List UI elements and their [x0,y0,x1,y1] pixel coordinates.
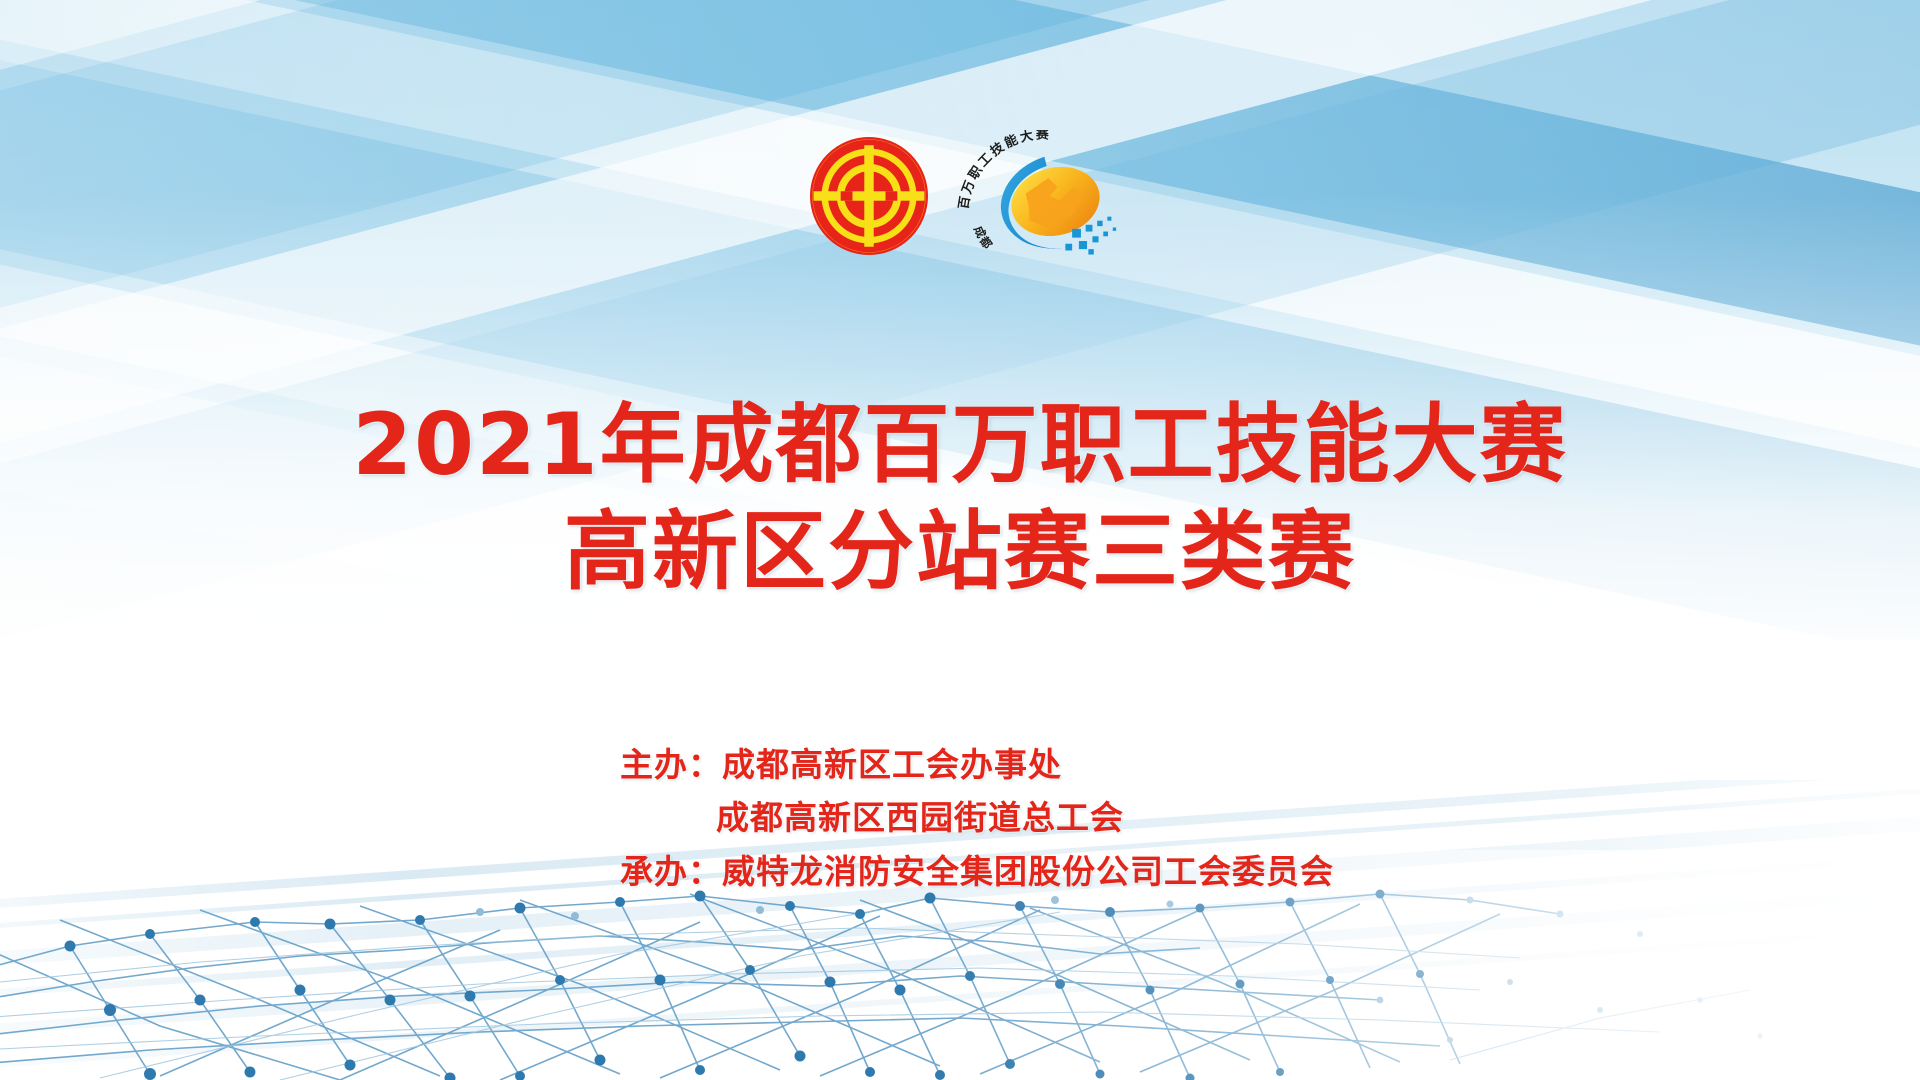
organizer-line-host-2: 成都高新区西园街道总工会 [620,791,1300,844]
poster-title-line-1: 2021年成都百万职工技能大赛 [0,395,1920,496]
poster-title-line-2: 高新区分站赛三类赛 [0,502,1920,603]
logo-row: 百万职工技能大赛 成都 [0,130,1920,270]
skill-competition-logo-icon: 百万职工技能大赛 成都 [952,130,1130,262]
organizer-block: 主办：成都高新区工会办事处 成都高新区西园街道总工会 承办：威特龙消防安全集团股… [0,738,1920,898]
organizer-line-undertaker: 承办：威特龙消防安全集团股份公司工会委员会 [620,845,1300,898]
acftu-emblem-icon [810,137,928,255]
organizer-line-host: 主办：成都高新区工会办事处 [620,738,1300,791]
poster-canvas: 百万职工技能大赛 成都 2021年成都百万职工技能大赛 高新区分站赛三类赛 主办… [0,0,1920,1080]
svg-text:成都: 成都 [971,224,996,253]
poster-title-block: 2021年成都百万职工技能大赛 高新区分站赛三类赛 [0,395,1920,604]
